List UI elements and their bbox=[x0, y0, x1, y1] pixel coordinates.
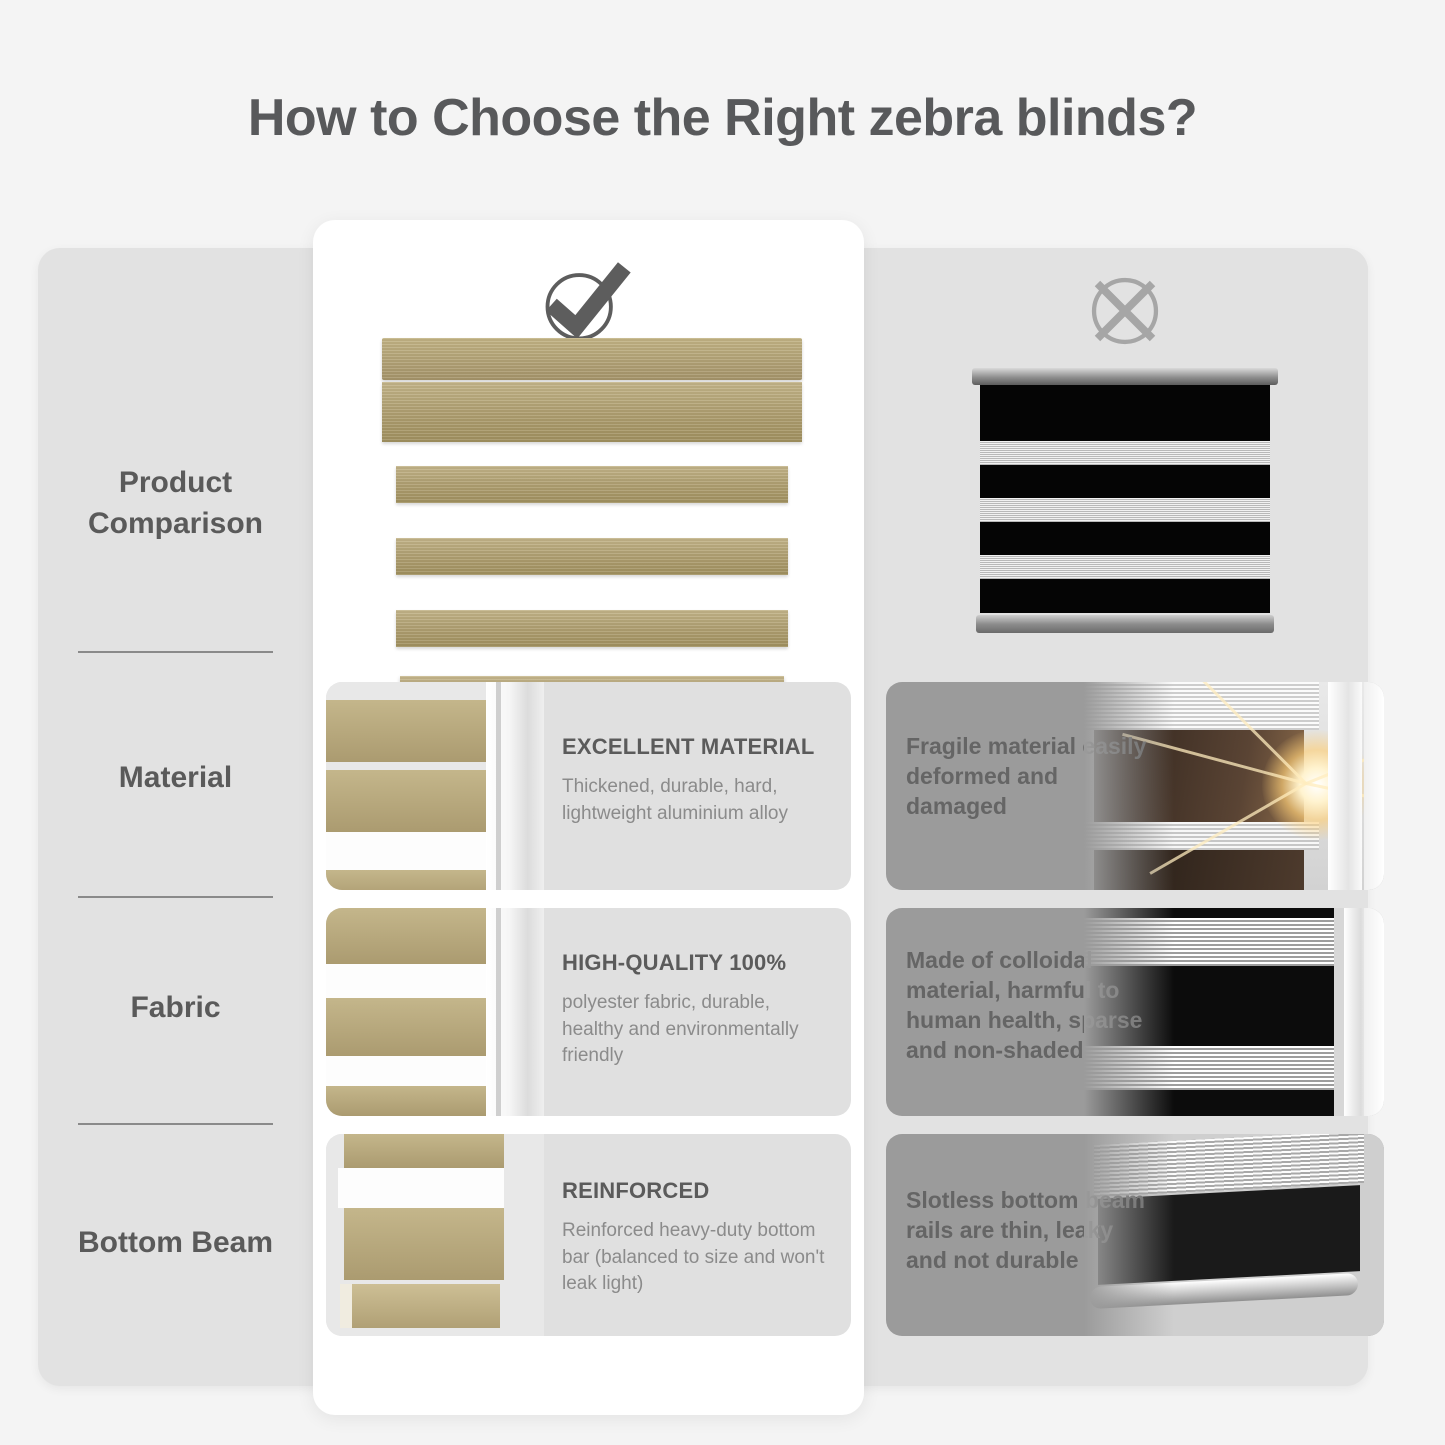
bad-feature-card-material: Fragile material easily deformed and dam… bbox=[886, 682, 1384, 890]
good-feature-card-material: EXCELLENT MATERIAL Thickened, durable, h… bbox=[326, 682, 851, 890]
bottom-bar-endcap bbox=[340, 1284, 352, 1328]
blind-bottom-rail bbox=[976, 615, 1274, 633]
bad-feature-photo bbox=[1084, 1134, 1384, 1336]
sidebar-divider bbox=[78, 896, 273, 898]
blind-sheer-stripe bbox=[980, 555, 1270, 579]
blind-slat bbox=[396, 538, 788, 575]
blind-headrail bbox=[382, 338, 802, 380]
blind-headrail bbox=[972, 368, 1278, 385]
cross-circle-icon bbox=[1082, 268, 1168, 354]
sidebar-row-bottom-beam: Bottom Beam bbox=[38, 1168, 313, 1318]
bad-feature-photo bbox=[1084, 908, 1384, 1116]
blind-slat bbox=[382, 382, 802, 442]
page-title: How to Choose the Right zebra blinds? bbox=[0, 88, 1445, 148]
good-feature-photo bbox=[326, 682, 544, 890]
window-frame bbox=[486, 908, 544, 1116]
good-product-image bbox=[382, 338, 802, 668]
blind-slat bbox=[396, 466, 788, 503]
blind-slat bbox=[396, 610, 788, 647]
check-circle-icon bbox=[536, 252, 632, 348]
good-feature-body: Thickened, durable, hard, lightweight al… bbox=[562, 774, 833, 827]
bad-feature-photo bbox=[1084, 682, 1384, 890]
good-feature-card-bottom-beam: REINFORCED Reinforced heavy-duty bottom … bbox=[326, 1134, 851, 1336]
sidebar-row-material: Material bbox=[38, 718, 313, 838]
good-feature-heading: HIGH-QUALITY 100% bbox=[562, 950, 833, 976]
good-feature-body: polyester fabric, durable, healthy and e… bbox=[562, 990, 833, 1070]
blind-fabric bbox=[980, 385, 1270, 613]
sidebar-divider bbox=[78, 1123, 273, 1125]
sidebar-divider bbox=[78, 651, 273, 653]
good-feature-body: Reinforced heavy-duty bottom bar (balanc… bbox=[562, 1218, 833, 1298]
bad-feature-card-bottom-beam: Slotless bottom beam rails are thin, lea… bbox=[886, 1134, 1384, 1336]
good-feature-heading: EXCELLENT MATERIAL bbox=[562, 734, 833, 760]
good-feature-photo bbox=[326, 908, 544, 1116]
blind-sheer-stripe bbox=[980, 498, 1270, 522]
good-feature-heading: REINFORCED bbox=[562, 1178, 833, 1204]
bad-product-image bbox=[972, 368, 1278, 640]
blind-sheer-stripe bbox=[980, 441, 1270, 465]
sidebar-row-fabric: Fabric bbox=[38, 948, 313, 1068]
criteria-sidebar: Product Comparison Material Fabric Botto… bbox=[38, 248, 313, 1386]
sidebar-row-product-comparison: Product Comparison bbox=[38, 428, 313, 578]
bad-feature-card-fabric: Made of colloidal material, harmful to h… bbox=[886, 908, 1384, 1116]
window-frame bbox=[486, 682, 544, 890]
good-feature-card-fabric: HIGH-QUALITY 100% polyester fabric, dura… bbox=[326, 908, 851, 1116]
good-feature-photo bbox=[326, 1134, 544, 1336]
